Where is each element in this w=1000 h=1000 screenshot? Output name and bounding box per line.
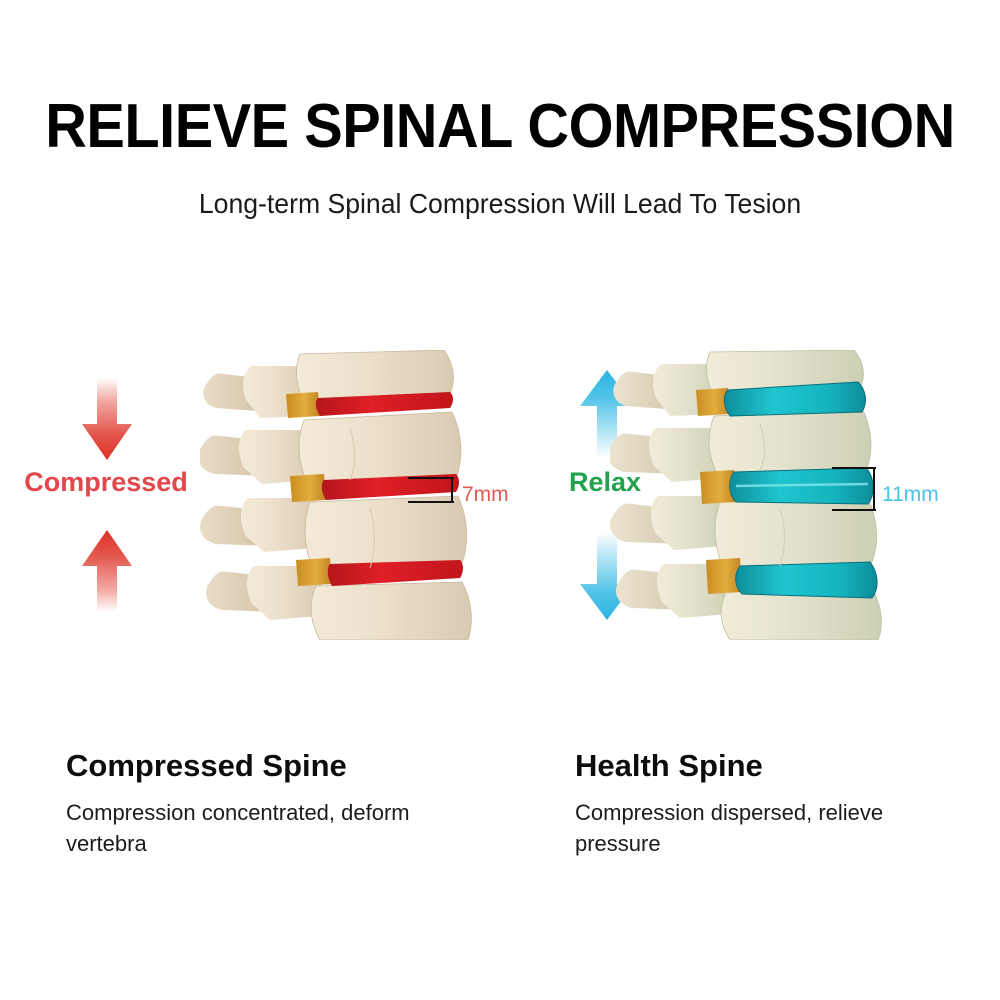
page-title: RELIEVE SPINAL COMPRESSION bbox=[35, 96, 965, 158]
caption-left-title: Compressed Spine bbox=[66, 748, 506, 784]
page-subtitle: Long-term Spinal Compression Will Lead T… bbox=[25, 188, 975, 220]
captions-row: Compressed Spine Compression concentrate… bbox=[0, 748, 1000, 898]
caption-left-body: Compression concentrated, deform vertebr… bbox=[66, 797, 481, 859]
caption-health-spine: Health Spine Compression dispersed, reli… bbox=[575, 748, 1000, 859]
compressed-spine-panel: Compressed bbox=[0, 350, 500, 640]
caption-compressed-spine: Compressed Spine Compression concentrate… bbox=[66, 748, 506, 859]
arrow-down-icon bbox=[82, 378, 132, 460]
header: RELIEVE SPINAL COMPRESSION Long-term Spi… bbox=[0, 0, 1000, 220]
arrow-up-icon bbox=[82, 530, 132, 612]
measurement-11mm: 11mm bbox=[882, 483, 939, 507]
caption-right-title: Health Spine bbox=[575, 748, 1000, 784]
compressed-label: Compressed bbox=[8, 467, 204, 498]
healthy-spine-panel: Relax bbox=[500, 350, 1000, 640]
caption-right-body: Compression dispersed, relieve pressure bbox=[575, 797, 945, 859]
comparison-diagram: Compressed bbox=[0, 350, 1000, 640]
